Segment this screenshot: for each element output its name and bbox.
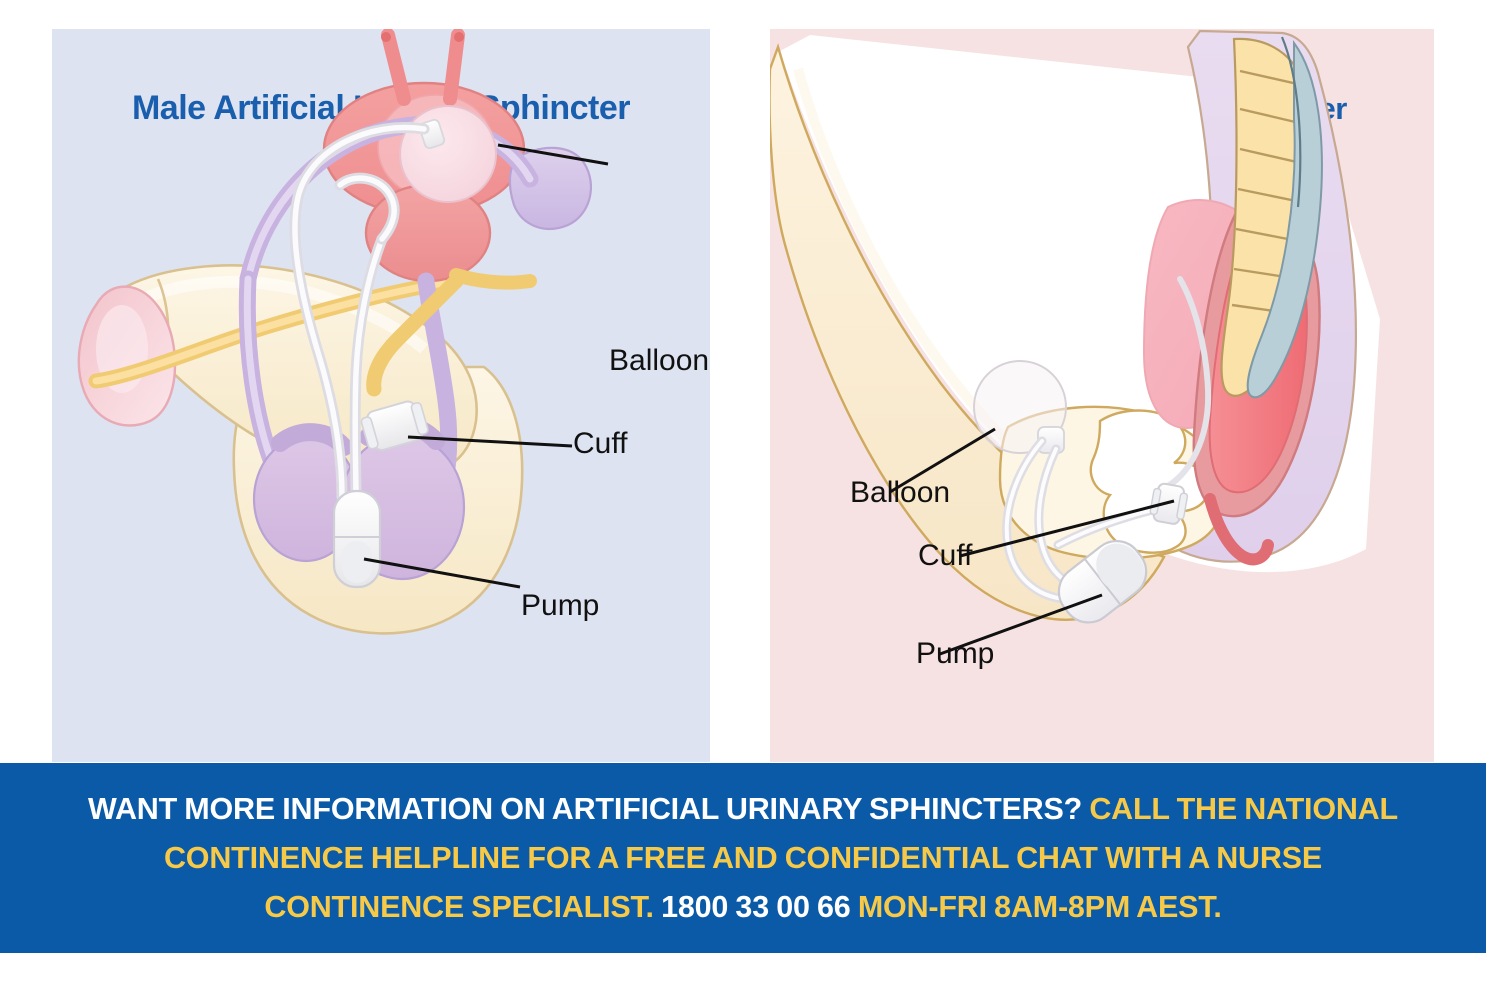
ureter-right [450,35,458,99]
cta-spacer-3 [851,890,858,924]
label-pump-male: Pump [521,589,599,623]
ureter-left-opening [381,32,391,42]
ureter-right-opening [454,32,464,42]
label-cuff-female: Cuff [918,539,972,573]
cta-phone-number[interactable]: 1800 33 00 66 [661,890,850,924]
cta-segment-hours: MON-FRI 8AM-8PM AEST. [858,890,1222,924]
female-anatomy-illustration [770,29,1434,762]
urethra-prostatic-branch [456,275,530,283]
label-cuff-male: Cuff [573,427,627,461]
infographic-root: Male Artificial Urinary Sphincter [0,0,1486,998]
cta-text-block: WANT MORE INFORMATION ON ARTIFICIAL URIN… [73,785,1413,932]
label-pump-female: Pump [916,637,994,671]
label-balloon-male: Balloon [609,344,709,378]
label-balloon-female: Balloon [850,476,950,510]
male-anatomy-illustration [52,29,710,762]
cta-segment-question: WANT MORE INFORMATION ON ARTIFICIAL URIN… [88,792,1082,826]
cta-banner: WANT MORE INFORMATION ON ARTIFICIAL URIN… [0,763,1486,953]
balloon-reservoir [400,106,496,202]
panel-female-sphincter: Female Artificial Urinary Sphincter [770,29,1434,762]
pump-bulb [342,541,372,583]
panel-male-sphincter: Male Artificial Urinary Sphincter [52,29,710,762]
